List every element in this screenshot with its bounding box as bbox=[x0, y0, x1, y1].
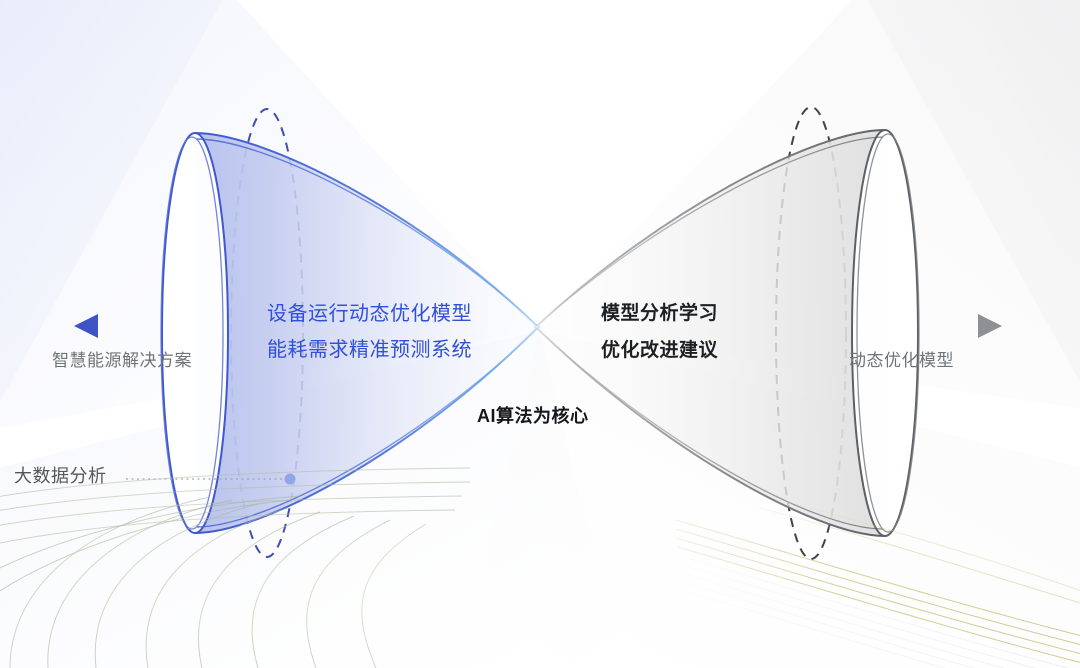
left-cone-label-line2: 能耗需求精准预测系统 bbox=[267, 340, 472, 360]
left-cone-outer-label: 智慧能源解决方案 bbox=[52, 352, 192, 369]
right-cone-label-line2: 优化改进建议 bbox=[601, 341, 718, 360]
center-core-label: AI算法为核心 bbox=[477, 407, 589, 425]
right-cone-label-line1: 模型分析学习 bbox=[601, 304, 718, 323]
big-data-callout-label: 大数据分析 bbox=[14, 467, 107, 485]
right-cone-outer-label: 动态优化模型 bbox=[849, 352, 954, 369]
diagram-svg bbox=[0, 0, 1080, 668]
left-cone-label-line1: 设备运行动态优化模型 bbox=[267, 304, 472, 324]
diagram-canvas: 设备运行动态优化模型 能耗需求精准预测系统 智慧能源解决方案 模型分析学习 优化… bbox=[0, 0, 1080, 668]
callout-endpoint-dot bbox=[285, 474, 296, 485]
